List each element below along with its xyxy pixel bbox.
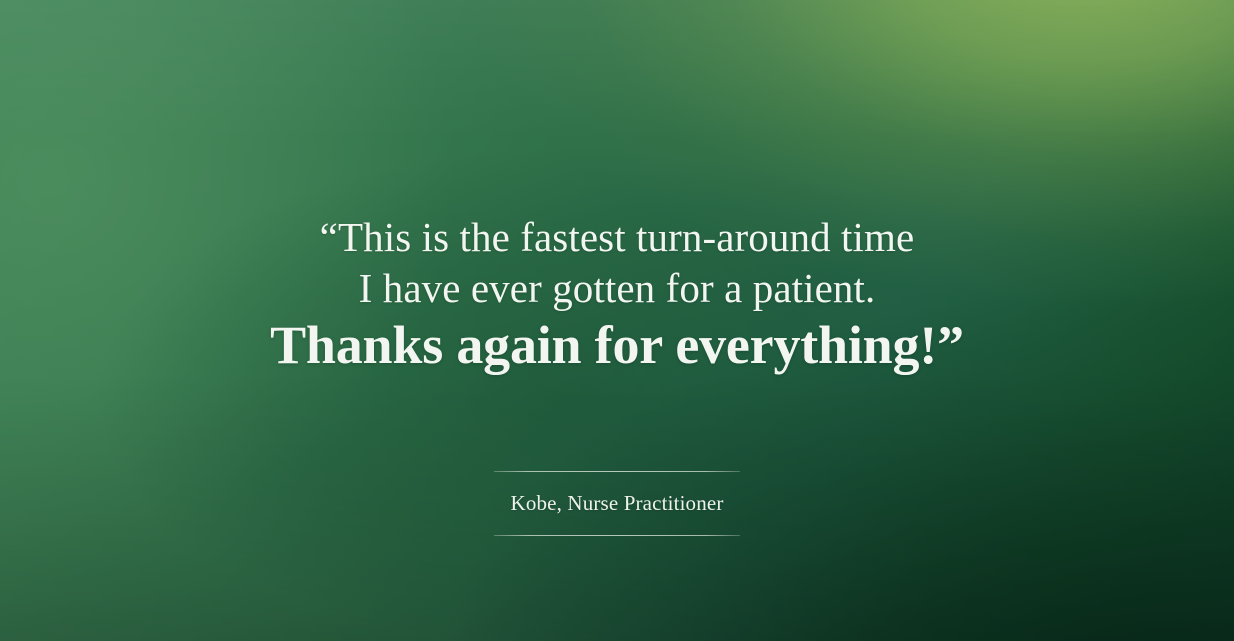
- quote-line-1: “This is the fastest turn-around time: [40, 212, 1194, 263]
- attribution-rule-bottom: [494, 535, 740, 536]
- quote-line-3: Thanks again for everything!”: [40, 314, 1194, 377]
- quote-text: “This is the fastest turn-around time I …: [40, 212, 1194, 377]
- attribution-label: Kobe, Nurse Practitioner: [494, 472, 740, 535]
- testimonial-slide: “This is the fastest turn-around time I …: [0, 0, 1234, 641]
- attribution: Kobe, Nurse Practitioner: [494, 471, 740, 536]
- quote-line-2: I have ever gotten for a patient.: [40, 263, 1194, 314]
- slide-content: “This is the fastest turn-around time I …: [0, 0, 1234, 641]
